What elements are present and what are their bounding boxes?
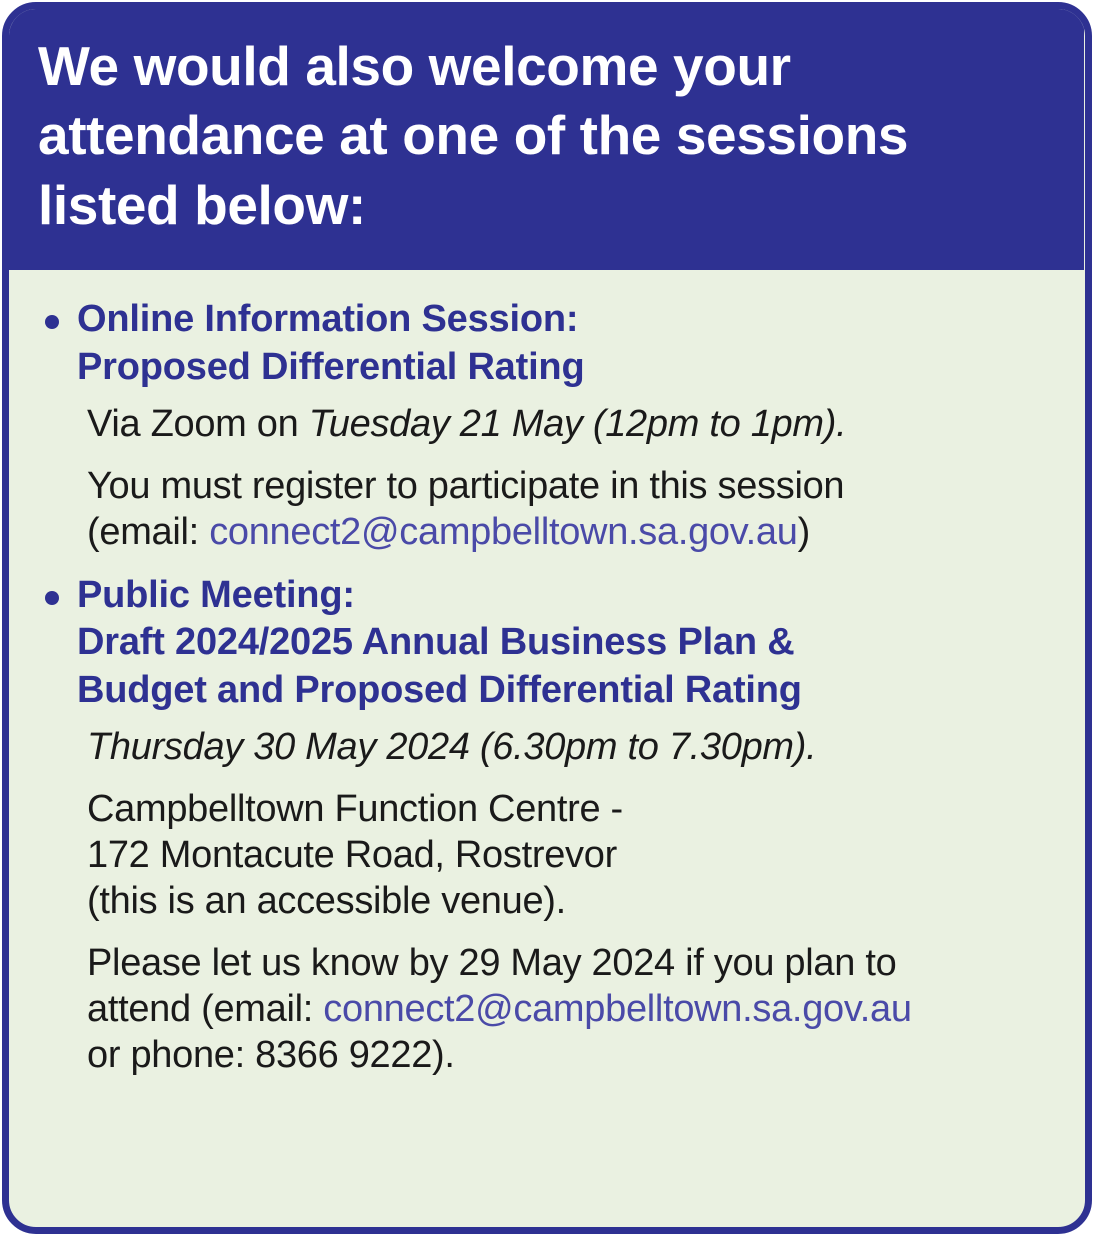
session-block: Online Information Session: Proposed Dif…	[35, 296, 1059, 556]
meeting-datetime: Thursday 30 May 2024 (6.30pm to 7.30pm).	[87, 725, 1059, 771]
session-heading-row: Online Information Session: Proposed Dif…	[35, 296, 1059, 392]
registration-note: You must register to participate in this…	[87, 464, 1059, 556]
session-detail-lines: Via Zoom on Tuesday 21 May (12pm to 1pm)…	[87, 402, 1059, 556]
callout-header-banner: We would also welcome your attendance at…	[8, 8, 1084, 270]
sessions-callout-card: We would also welcome your attendance at…	[2, 2, 1092, 1234]
text-run: Via Zoom on	[87, 403, 309, 445]
session-block: Public Meeting: Draft 2024/2025 Annual B…	[35, 572, 1059, 1079]
text-run: )	[798, 511, 810, 553]
zoom-details: Via Zoom on Tuesday 21 May (12pm to 1pm)…	[87, 402, 1059, 448]
sessions-list: Online Information Session: Proposed Dif…	[9, 270, 1085, 1105]
emphasised-text: Thursday 30 May 2024 (6.30pm to 7.30pm).	[87, 726, 816, 768]
text-run: Campbelltown Function Centre - 172 Monta…	[87, 788, 623, 922]
session-heading-row: Public Meeting: Draft 2024/2025 Annual B…	[35, 572, 1059, 716]
session-detail-lines: Thursday 30 May 2024 (6.30pm to 7.30pm).…	[87, 725, 1059, 1079]
email-link[interactable]: connect2@campbelltown.sa.gov.au	[323, 988, 911, 1030]
bullet-dot-icon	[45, 591, 59, 605]
rsvp-note: Please let us know by 29 May 2024 if you…	[87, 941, 1059, 1079]
session-heading: Public Meeting: Draft 2024/2025 Annual B…	[77, 572, 1059, 716]
email-link[interactable]: connect2@campbelltown.sa.gov.au	[209, 511, 797, 553]
page-title: We would also welcome your attendance at…	[38, 32, 1024, 240]
venue-address: Campbelltown Function Centre - 172 Monta…	[87, 787, 1059, 925]
emphasised-text: Tuesday 21 May (12pm to 1pm).	[309, 403, 847, 445]
text-run: or phone: 8366 9222).	[87, 1034, 455, 1076]
bullet-dot-icon	[45, 315, 59, 329]
session-heading: Online Information Session: Proposed Dif…	[77, 296, 1059, 392]
